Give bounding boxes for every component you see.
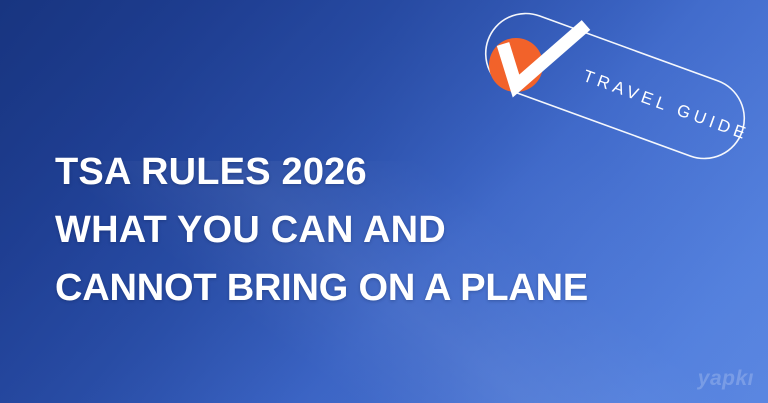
- headline-line-2: WHAT YOU CAN AND: [55, 201, 745, 259]
- watermark-logo: yapkı: [698, 367, 754, 391]
- headline-line-3: CANNOT BRING ON A PLANE: [55, 259, 745, 317]
- travel-guide-badge: TRAVEL GUIDE: [470, 22, 760, 150]
- page-title: TSA RULES 2026 WHAT YOU CAN AND CANNOT B…: [55, 143, 745, 317]
- travel-guide-hero-banner: TRAVEL GUIDE TSA RULES 2026 WHAT YOU CAN…: [0, 0, 768, 403]
- headline-line-1: TSA RULES 2026: [55, 143, 745, 201]
- badge-label: TRAVEL GUIDE: [581, 66, 753, 144]
